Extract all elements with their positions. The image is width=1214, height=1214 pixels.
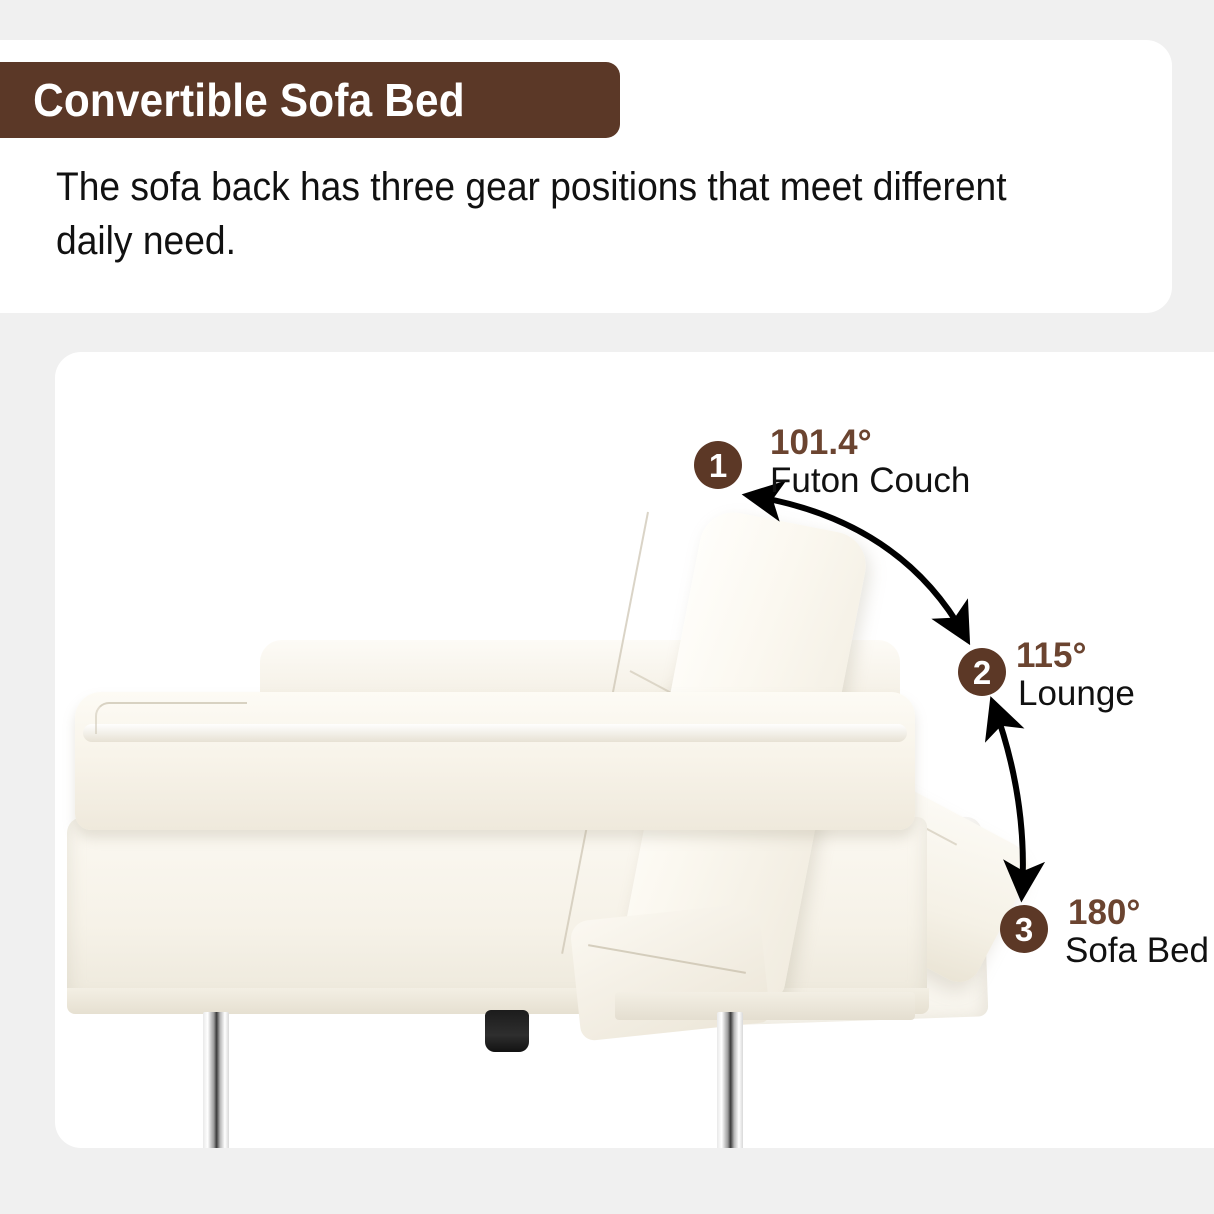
marker-2-number: 2: [973, 656, 991, 689]
product-image-card: [55, 352, 1214, 1148]
callout-3-angle: 180°: [1068, 895, 1209, 932]
marker-3-number: 3: [1015, 913, 1033, 946]
marker-position-3[interactable]: 3: [1000, 905, 1048, 953]
marker-1-number: 1: [709, 449, 727, 482]
page-title: Convertible Sofa Bed: [0, 73, 465, 127]
sofa-rail: [615, 992, 915, 1020]
callout-1-angle: 101.4°: [770, 425, 970, 462]
chrome-leg-left: [203, 1012, 229, 1148]
title-banner: Convertible Sofa Bed: [0, 62, 620, 138]
marker-position-2[interactable]: 2: [958, 648, 1006, 696]
callout-position-1: 101.4° Futon Couch: [770, 425, 970, 500]
subtitle-text: The sofa back has three gear positions t…: [56, 160, 1079, 268]
header-card: Convertible Sofa Bed The sofa back has t…: [0, 40, 1172, 313]
chrome-leg-right: [717, 1012, 743, 1148]
infographic-canvas: Convertible Sofa Bed The sofa back has t…: [0, 0, 1214, 1214]
callout-2-name: Lounge: [1018, 675, 1135, 714]
seat-cushion-corner-seam: [95, 702, 247, 734]
callout-position-2: 115° Lounge: [1016, 638, 1135, 713]
callout-1-name: Futon Couch: [770, 462, 970, 501]
product-photo: [55, 352, 1214, 1148]
black-plastic-foot: [485, 1010, 529, 1052]
callout-3-name: Sofa Bed: [1065, 932, 1209, 971]
callout-position-3: 180° Sofa Bed: [1068, 895, 1209, 970]
marker-position-1[interactable]: 1: [694, 441, 742, 489]
callout-2-angle: 115°: [1016, 638, 1135, 675]
sofa-illustration: [55, 352, 1214, 1148]
